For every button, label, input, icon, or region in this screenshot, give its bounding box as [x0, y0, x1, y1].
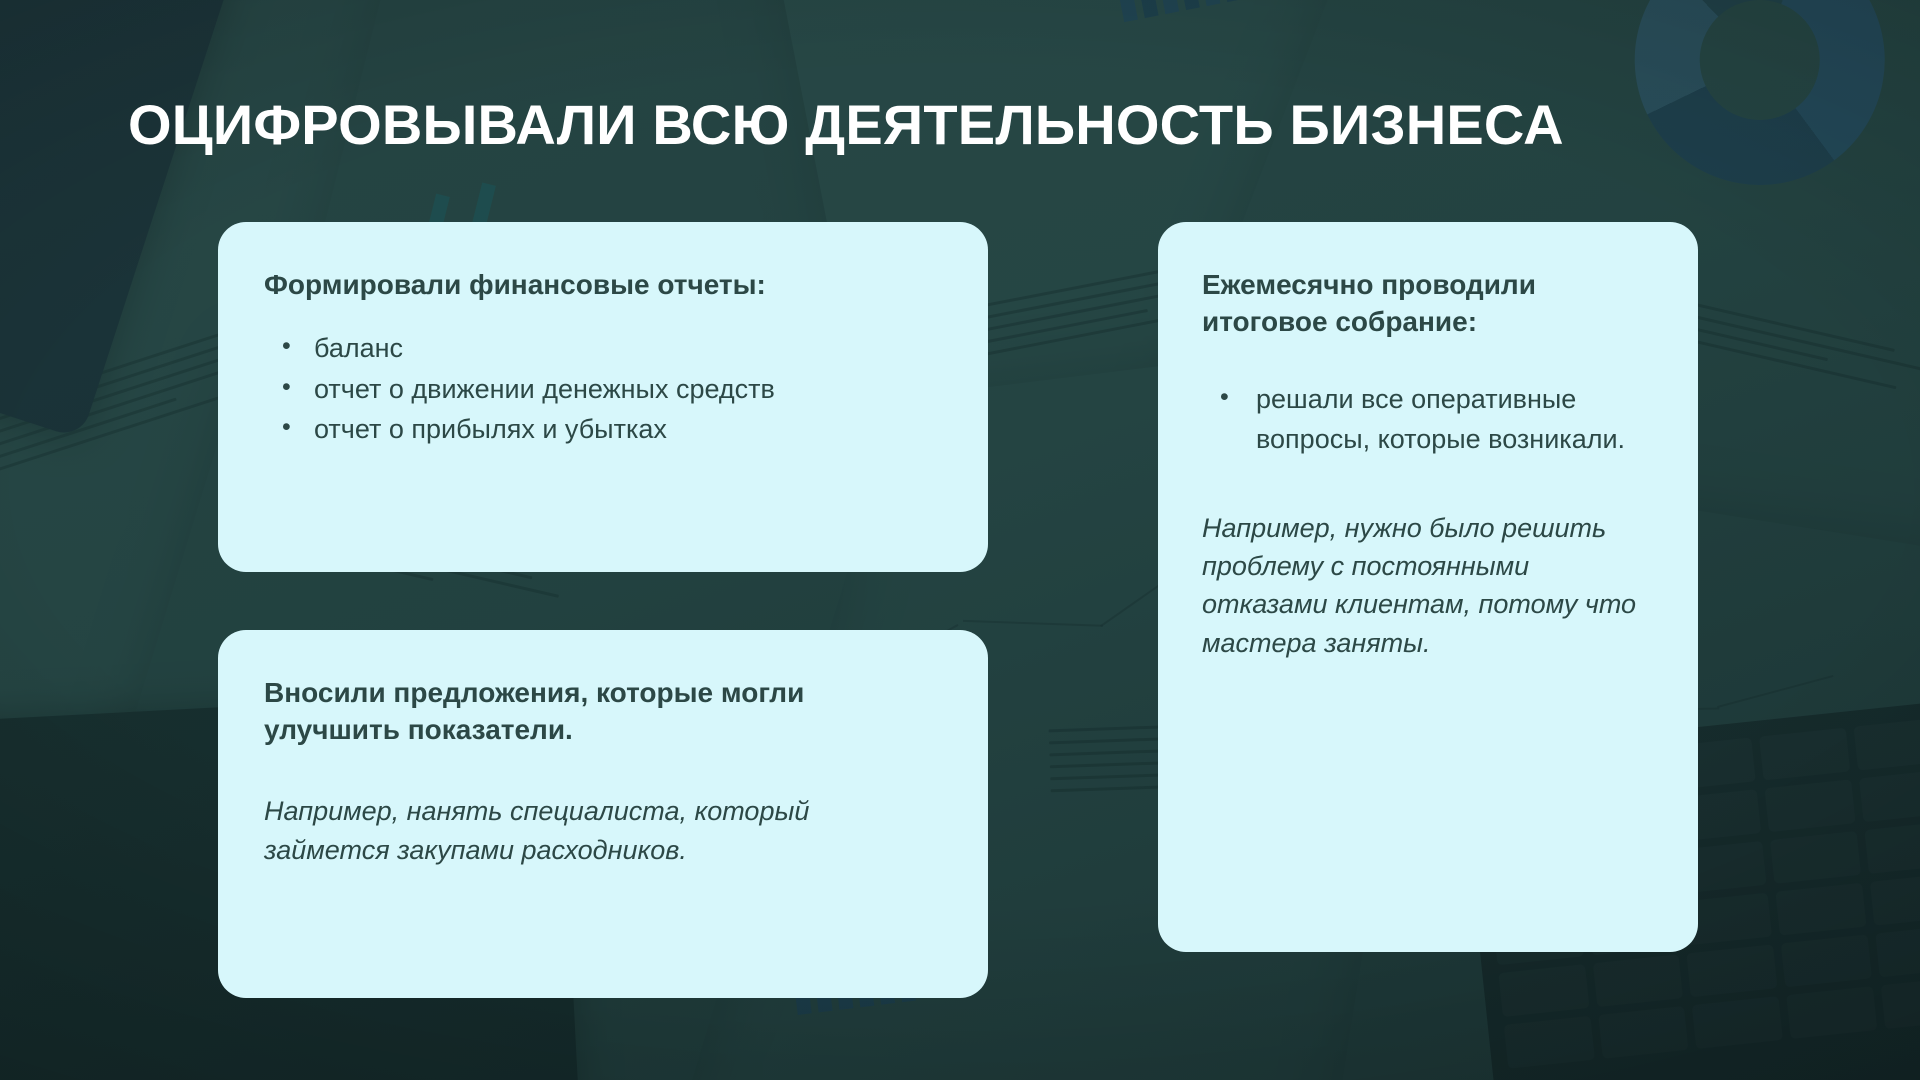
card-bullet-list: решали все оперативные вопросы, которые … [1202, 380, 1654, 458]
list-item: решали все оперативные вопросы, которые … [1202, 380, 1654, 458]
page-title: ОЦИФРОВЫВАЛИ ВСЮ ДЕЯТЕЛЬНОСТЬ БИЗНЕСА [128, 94, 1828, 156]
card-monthly-meeting: Ежемесячно проводили итоговое собрание: … [1158, 222, 1698, 952]
card-heading: Вносили предложения, которые могли улучш… [264, 674, 942, 748]
list-item: баланс [264, 329, 942, 367]
card-bullet-list: баланс отчет о движении денежных средств… [264, 329, 942, 448]
card-example-note: Например, нанять специалиста, который за… [264, 792, 942, 869]
card-financial-reports: Формировали финансовые отчеты: баланс от… [218, 222, 988, 572]
card-example-note: Например, нужно было решить проблему с п… [1202, 509, 1654, 662]
slide-root: ОЦИФРОВЫВАЛИ ВСЮ ДЕЯТЕЛЬНОСТЬ БИЗНЕСА Фо… [0, 0, 1920, 1080]
card-heading: Ежемесячно проводили итоговое собрание: [1202, 266, 1654, 340]
card-improvement-proposals: Вносили предложения, которые могли улучш… [218, 630, 988, 998]
list-item: отчет о движении денежных средств [264, 370, 942, 408]
card-heading: Формировали финансовые отчеты: [264, 266, 942, 303]
list-item: отчет о прибылях и убытках [264, 410, 942, 448]
